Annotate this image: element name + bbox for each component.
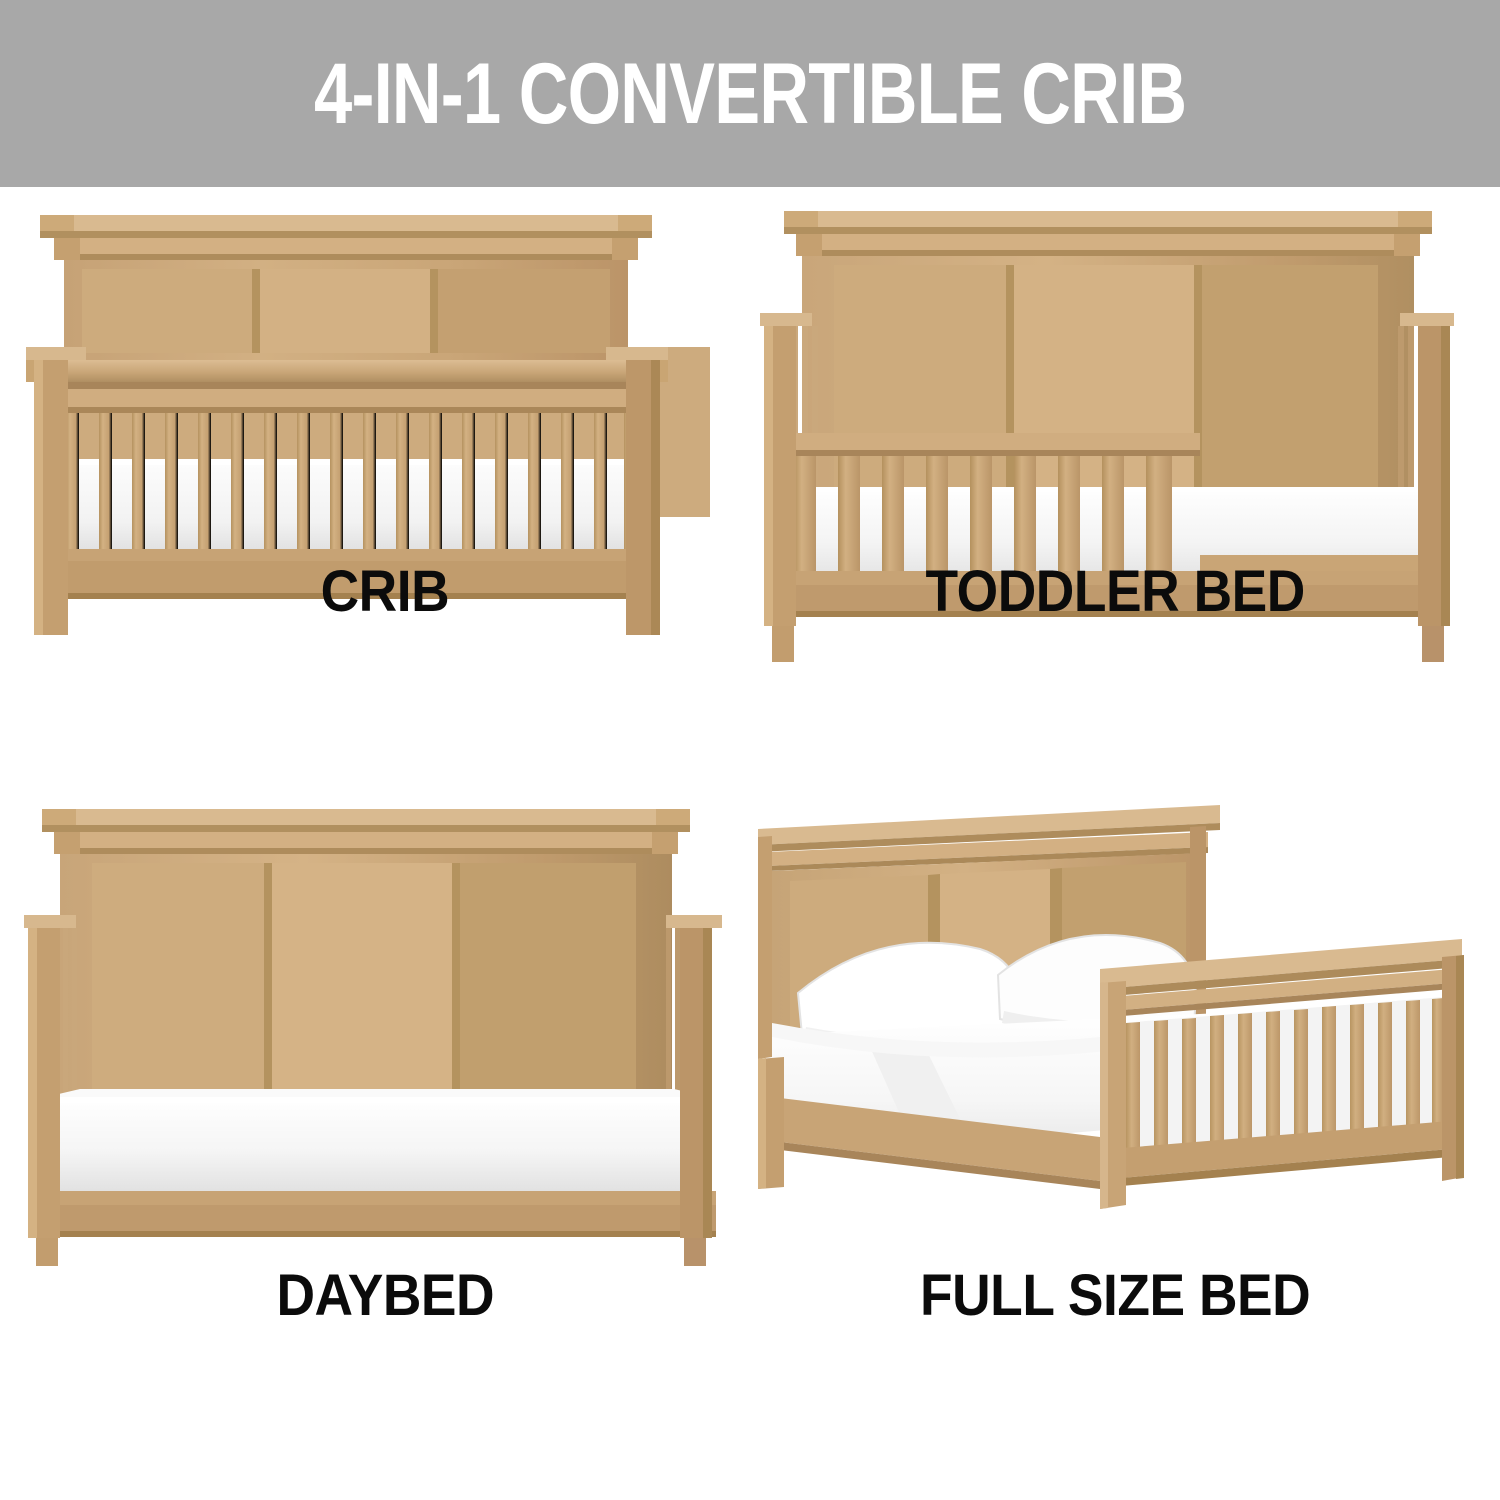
daybed-base-rail xyxy=(40,1191,716,1237)
full-size-bed-illustration xyxy=(750,797,1480,1267)
daybed-mattress xyxy=(46,1089,708,1195)
config-label-toddler-bed: TODDLER BED xyxy=(750,563,1500,621)
config-label-full-size-bed: FULL SIZE BED xyxy=(750,1267,1500,1325)
product-infographic: 4-IN-1 CONVERTIBLE CRIB xyxy=(0,0,1500,1500)
page-title: 4-IN-1 CONVERTIBLE CRIB xyxy=(314,51,1186,137)
config-card-toddler-bed: TODDLER BED xyxy=(750,197,1480,787)
crib-headboard xyxy=(40,215,652,360)
full-bed-footboard xyxy=(1100,939,1464,1209)
config-card-full-size-bed: FULL SIZE BED xyxy=(750,797,1480,1387)
daybed-headboard xyxy=(42,809,690,1106)
config-card-daybed: DAYBED xyxy=(20,797,750,1387)
daybed-illustration xyxy=(20,797,750,1267)
header-banner: 4-IN-1 CONVERTIBLE CRIB xyxy=(0,0,1500,187)
configuration-grid: CRIB xyxy=(0,187,1500,1500)
config-card-crib: CRIB xyxy=(20,197,750,787)
